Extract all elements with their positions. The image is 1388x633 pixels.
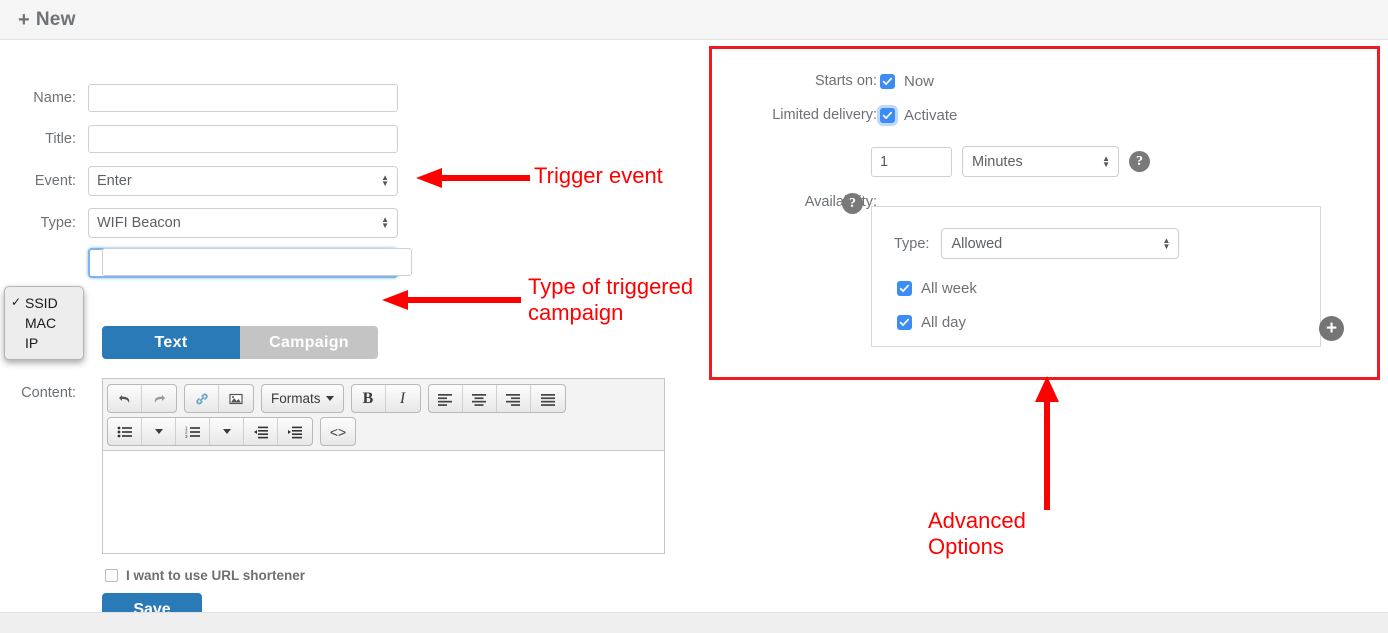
duration-unit-value: Minutes <box>972 154 1023 170</box>
name-input[interactable] <box>88 84 398 112</box>
availability-type-select[interactable]: Allowed ▲▼ <box>941 228 1179 259</box>
indent-icon[interactable] <box>278 418 312 445</box>
starts-on-row: Now <box>880 73 934 90</box>
dropdown-option-mac[interactable]: MAC <box>5 313 83 333</box>
advanced-options-annotation: Advanced Options <box>928 508 1026 560</box>
svg-text:3: 3 <box>185 433 188 438</box>
toggle-text-button[interactable]: Text <box>102 326 240 359</box>
dropdown-option-label: MAC <box>25 315 56 331</box>
all-week-label: All week <box>921 280 977 297</box>
style-group: B I <box>351 384 421 413</box>
campaign-form: Name: Title: Event: Enter ▲▼ Type: WIFI … <box>0 40 700 612</box>
check-icon: ✓ <box>11 293 21 311</box>
formats-group: Formats <box>261 384 344 413</box>
align-justify-icon[interactable] <box>531 385 565 412</box>
availability-type-value: Allowed <box>951 236 1002 252</box>
bullet-list-caret-icon[interactable] <box>142 418 176 445</box>
field-row-title: Title: <box>0 125 398 153</box>
new-button-label: New <box>36 9 76 31</box>
dropdown-option-label: IP <box>25 335 38 351</box>
field-row-subtype-text <box>88 248 412 276</box>
all-day-checkbox[interactable] <box>897 315 912 330</box>
all-day-label: All day <box>921 314 966 331</box>
dropdown-option-label: SSID <box>25 295 58 311</box>
type-select-value: WIFI Beacon <box>97 215 181 231</box>
url-shortener-checkbox[interactable] <box>105 569 118 582</box>
trigger-event-annotation: Trigger event <box>534 163 663 189</box>
event-select[interactable]: Enter ▲▼ <box>88 166 398 196</box>
type-label: Type: <box>0 215 88 231</box>
field-row-event: Event: Enter ▲▼ <box>0 166 398 196</box>
all-week-checkbox[interactable] <box>897 281 912 296</box>
availability-help: ? <box>842 193 863 214</box>
outdent-icon[interactable] <box>244 418 278 445</box>
align-left-icon[interactable] <box>429 385 463 412</box>
field-row-type: Type: WIFI Beacon ▲▼ <box>0 208 398 238</box>
url-shortener-label: I want to use URL shortener <box>126 568 305 583</box>
campaign-type-annotation: Type of triggered campaign <box>528 274 693 326</box>
all-week-row: All week <box>897 280 977 297</box>
chevron-down-icon <box>326 396 334 401</box>
starts-on-checkbox[interactable] <box>880 74 895 89</box>
page-header: + New <box>0 0 1388 40</box>
plus-icon: + <box>18 10 30 30</box>
add-availability-button[interactable]: + <box>1319 316 1344 341</box>
undo-icon[interactable] <box>108 385 142 412</box>
availability-type-row: Type: Allowed ▲▼ <box>894 228 1179 259</box>
editor-toolbar: Formats B I <box>102 378 665 450</box>
limited-delivery-row: Activate <box>880 107 957 124</box>
field-row-name: Name: <box>0 84 398 112</box>
chevron-updown-icon: ▲▼ <box>381 175 389 187</box>
event-select-value: Enter <box>97 173 132 189</box>
chevron-updown-icon: ▲▼ <box>1102 156 1110 168</box>
duration-help-icon[interactable]: ? <box>1129 151 1150 172</box>
bold-icon[interactable]: B <box>352 385 386 412</box>
editor-toolbar-row-1: Formats B I <box>107 384 660 413</box>
rich-text-editor: Formats B I <box>102 378 665 554</box>
duration-input[interactable] <box>871 147 952 177</box>
chevron-updown-icon: ▲▼ <box>381 217 389 229</box>
limited-delivery-checkbox-label: Activate <box>904 107 957 124</box>
event-label: Event: <box>0 173 88 189</box>
link-icon[interactable] <box>185 385 219 412</box>
page-footer <box>0 612 1388 633</box>
type-select[interactable]: WIFI Beacon ▲▼ <box>88 208 398 238</box>
list-group: 123 <box>107 417 313 446</box>
new-button[interactable]: + New <box>18 9 76 31</box>
availability-help-icon[interactable]: ? <box>842 193 863 214</box>
chevron-updown-icon: ▲▼ <box>1163 238 1171 250</box>
toggle-campaign-button[interactable]: Campaign <box>240 326 378 359</box>
title-label: Title: <box>0 131 88 147</box>
trigger-event-arrow <box>412 160 532 200</box>
formats-menu-button[interactable]: Formats <box>262 385 343 412</box>
url-shortener-row: I want to use URL shortener <box>105 568 305 583</box>
insert-group <box>184 384 254 413</box>
formats-label: Formats <box>271 391 321 406</box>
align-group <box>428 384 566 413</box>
numbered-list-caret-icon[interactable] <box>210 418 244 445</box>
history-group <box>107 384 177 413</box>
limited-delivery-checkbox[interactable] <box>880 108 895 123</box>
advanced-options-arrow <box>1030 372 1070 512</box>
subtype-dropdown-popup[interactable]: ✓ SSID MAC IP <box>4 286 84 360</box>
dropdown-option-ip[interactable]: IP <box>5 333 83 353</box>
source-code-icon[interactable]: <> <box>321 418 355 445</box>
align-center-icon[interactable] <box>463 385 497 412</box>
starts-on-checkbox-label: Now <box>904 73 934 90</box>
image-icon[interactable] <box>219 385 253 412</box>
title-input[interactable] <box>88 125 398 153</box>
campaign-type-arrow <box>378 282 523 322</box>
duration-row: Minutes ▲▼ ? <box>871 146 1150 177</box>
redo-icon[interactable] <box>142 385 176 412</box>
subtype-input[interactable] <box>102 248 412 276</box>
starts-on-label: Starts on: <box>725 73 877 89</box>
limited-delivery-label: Limited delivery: <box>725 107 877 123</box>
campaign-type-toggle: Text Campaign <box>102 326 378 359</box>
availability-box: Type: Allowed ▲▼ All week All day <box>871 206 1321 347</box>
dropdown-option-ssid[interactable]: ✓ SSID <box>5 293 83 313</box>
source-group: <> <box>320 417 356 446</box>
field-row-content: Content: <box>0 385 88 401</box>
all-day-row: All day <box>897 314 966 331</box>
italic-icon[interactable]: I <box>386 385 420 412</box>
editor-content-area[interactable] <box>102 450 665 554</box>
editor-toolbar-row-2: 123 <> <box>107 417 660 446</box>
content-label: Content: <box>0 385 88 401</box>
name-label: Name: <box>0 90 88 106</box>
align-right-icon[interactable] <box>497 385 531 412</box>
availability-type-label: Type: <box>894 236 929 252</box>
duration-unit-select[interactable]: Minutes ▲▼ <box>962 146 1119 177</box>
advanced-options-panel: Starts on: Now Limited delivery: Activat… <box>709 46 1380 380</box>
bullet-list-icon[interactable] <box>108 418 142 445</box>
numbered-list-icon[interactable]: 123 <box>176 418 210 445</box>
